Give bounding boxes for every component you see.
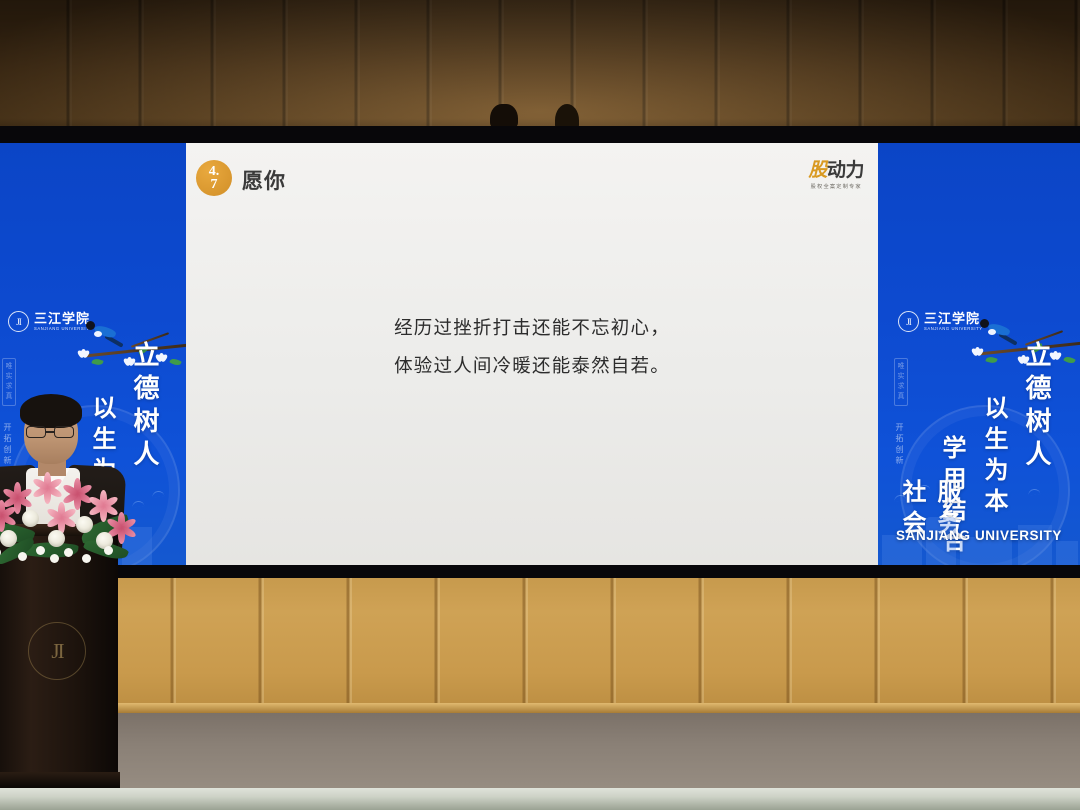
screen-panel-right: 三江学院 SANJIANG UNIVERSITY — [878, 143, 1080, 565]
brand-mark-gold: 股 — [808, 160, 827, 181]
slide-title: 愿你 — [242, 165, 286, 195]
eyeglasses-icon — [26, 426, 76, 438]
flower-arrangement — [0, 468, 152, 578]
magpie-branch-icon — [60, 303, 186, 373]
lower-wood-wall — [0, 578, 1080, 713]
slide-body-text: 经历过挫折打击还能不忘初心， 体验过人间冷暖还能泰然自若。 — [186, 311, 878, 387]
auditorium-scene: 三江学院 SANJIANG UNIVERSITY — [0, 0, 1080, 810]
brand-subtitle: 股权全案定制专家 — [808, 183, 864, 190]
hair — [20, 394, 82, 428]
lower-wall-plank-seams — [0, 578, 1080, 713]
magpie-branch-icon — [954, 301, 1080, 371]
podium-base — [0, 772, 120, 788]
calligraphy-line-1-right: 立德树人 — [1018, 341, 1055, 473]
slide-line-2: 体验过人间冷暖还能泰然自若。 — [186, 349, 878, 387]
brand-logo: 股动力 股权全案定制专家 — [808, 161, 864, 190]
university-seal-icon — [8, 311, 29, 332]
date-badge: 4. 7 — [196, 160, 232, 196]
stage-front-edge — [0, 788, 1080, 810]
brand-mark-dark: 动力 — [827, 160, 864, 181]
presentation-slide: 4. 7 愿你 股动力 股权全案定制专家 经历过挫折打击还能不忘初心， 体验过人… — [186, 143, 878, 565]
university-seal-icon — [898, 311, 919, 332]
motto-boxed-right: 唯实求真 — [894, 358, 908, 406]
panel-footer-university-en: SANJIANG UNIVERSITY — [878, 528, 1080, 543]
wall-baseboard-trim — [0, 703, 1080, 713]
stage-floor — [0, 713, 1080, 791]
podium-university-emblem-icon — [28, 622, 86, 680]
badge-top-text: 4. — [209, 165, 220, 178]
led-screen: 三江学院 SANJIANG UNIVERSITY — [0, 143, 1080, 565]
campus-skyline-right — [878, 477, 1080, 565]
slide-line-1: 经历过挫折打击还能不忘初心， — [186, 311, 878, 349]
motto-small-right: 开拓创新 — [894, 423, 905, 467]
badge-bottom-text: 7 — [211, 178, 218, 191]
